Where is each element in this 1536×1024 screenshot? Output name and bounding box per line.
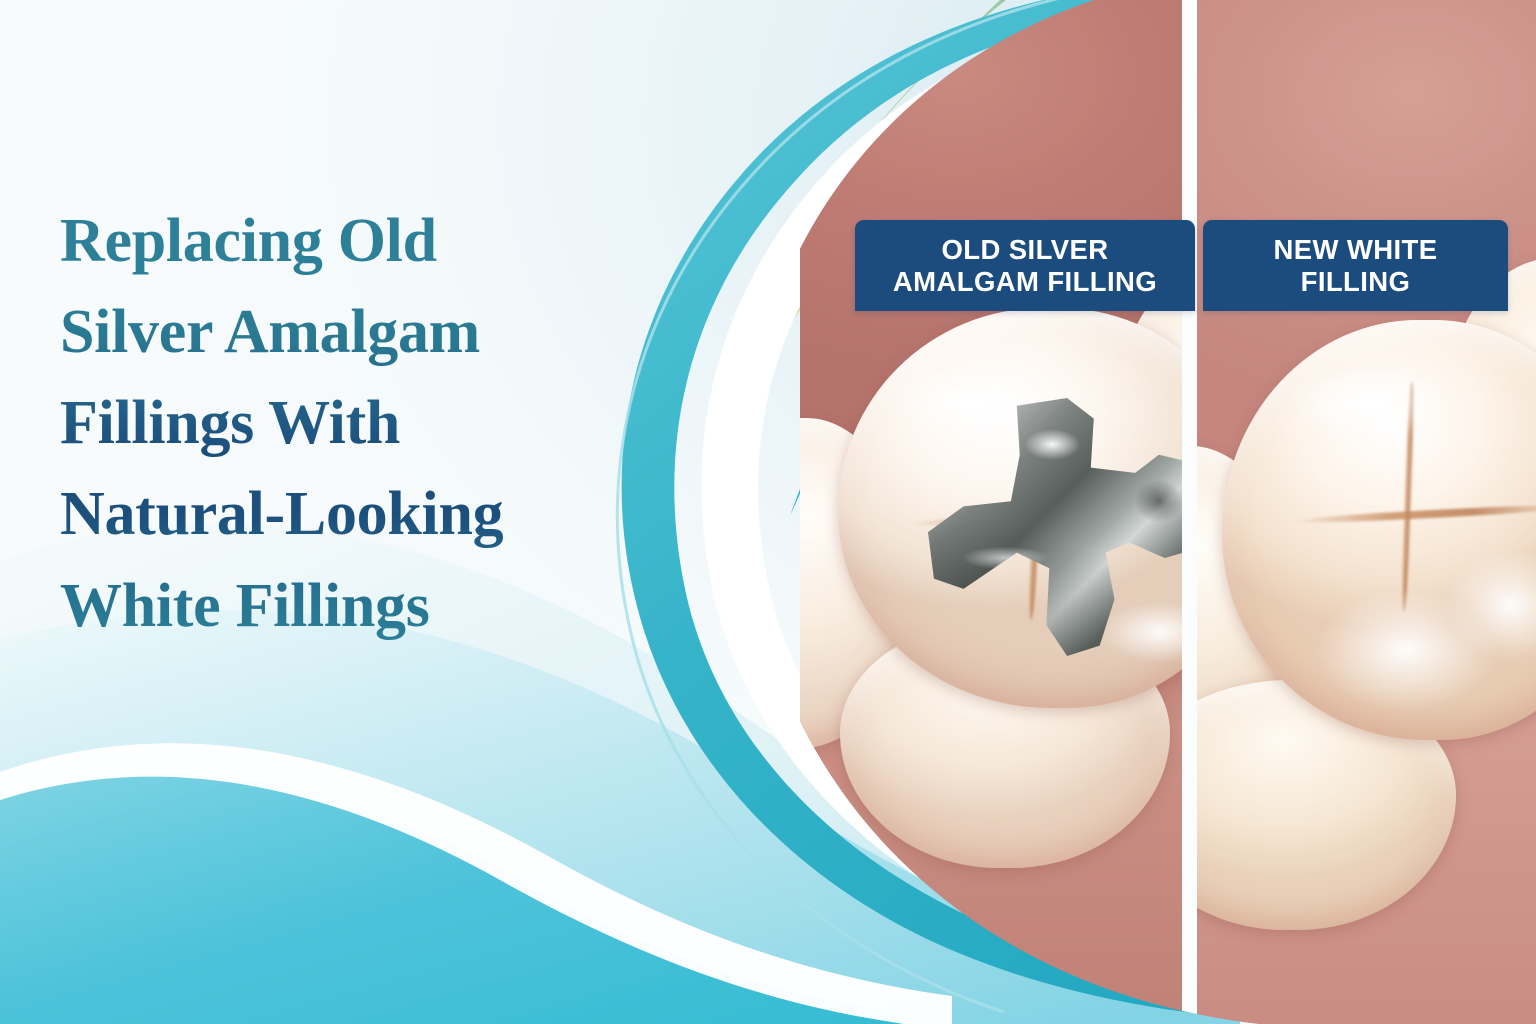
headline-line-3: Fillings With bbox=[60, 378, 670, 469]
caption-left-line-2: AMALGAM FILLING bbox=[871, 266, 1179, 298]
photo-old-silver-amalgam bbox=[800, 0, 1190, 1024]
headline-line-1: Replacing Old bbox=[60, 196, 670, 287]
headline-line-5: White Fillings bbox=[60, 561, 670, 652]
caption-right-line-1: NEW WHITE bbox=[1219, 234, 1492, 266]
photo-clip-mask bbox=[700, 0, 1536, 1024]
photo-new-white-filling bbox=[1196, 0, 1536, 1024]
caption-old-silver-amalgam: OLD SILVER AMALGAM FILLING bbox=[855, 220, 1195, 311]
before-after-comparison bbox=[700, 0, 1536, 1024]
page-title: Replacing Old Silver Amalgam Fillings Wi… bbox=[60, 196, 670, 652]
caption-new-white-filling: NEW WHITE FILLING bbox=[1203, 220, 1508, 311]
enamel-gloss bbox=[1316, 590, 1496, 710]
headline-line-2: Silver Amalgam bbox=[60, 287, 670, 378]
enamel-gloss bbox=[1282, 366, 1452, 440]
panel-divider bbox=[1182, 0, 1197, 1024]
caption-left-line-1: OLD SILVER bbox=[871, 234, 1179, 266]
headline-line-4: Natural-Looking bbox=[60, 469, 670, 560]
caption-right-line-2: FILLING bbox=[1219, 266, 1492, 298]
banner-canvas: Replacing Old Silver Amalgam Fillings Wi… bbox=[0, 0, 1536, 1024]
